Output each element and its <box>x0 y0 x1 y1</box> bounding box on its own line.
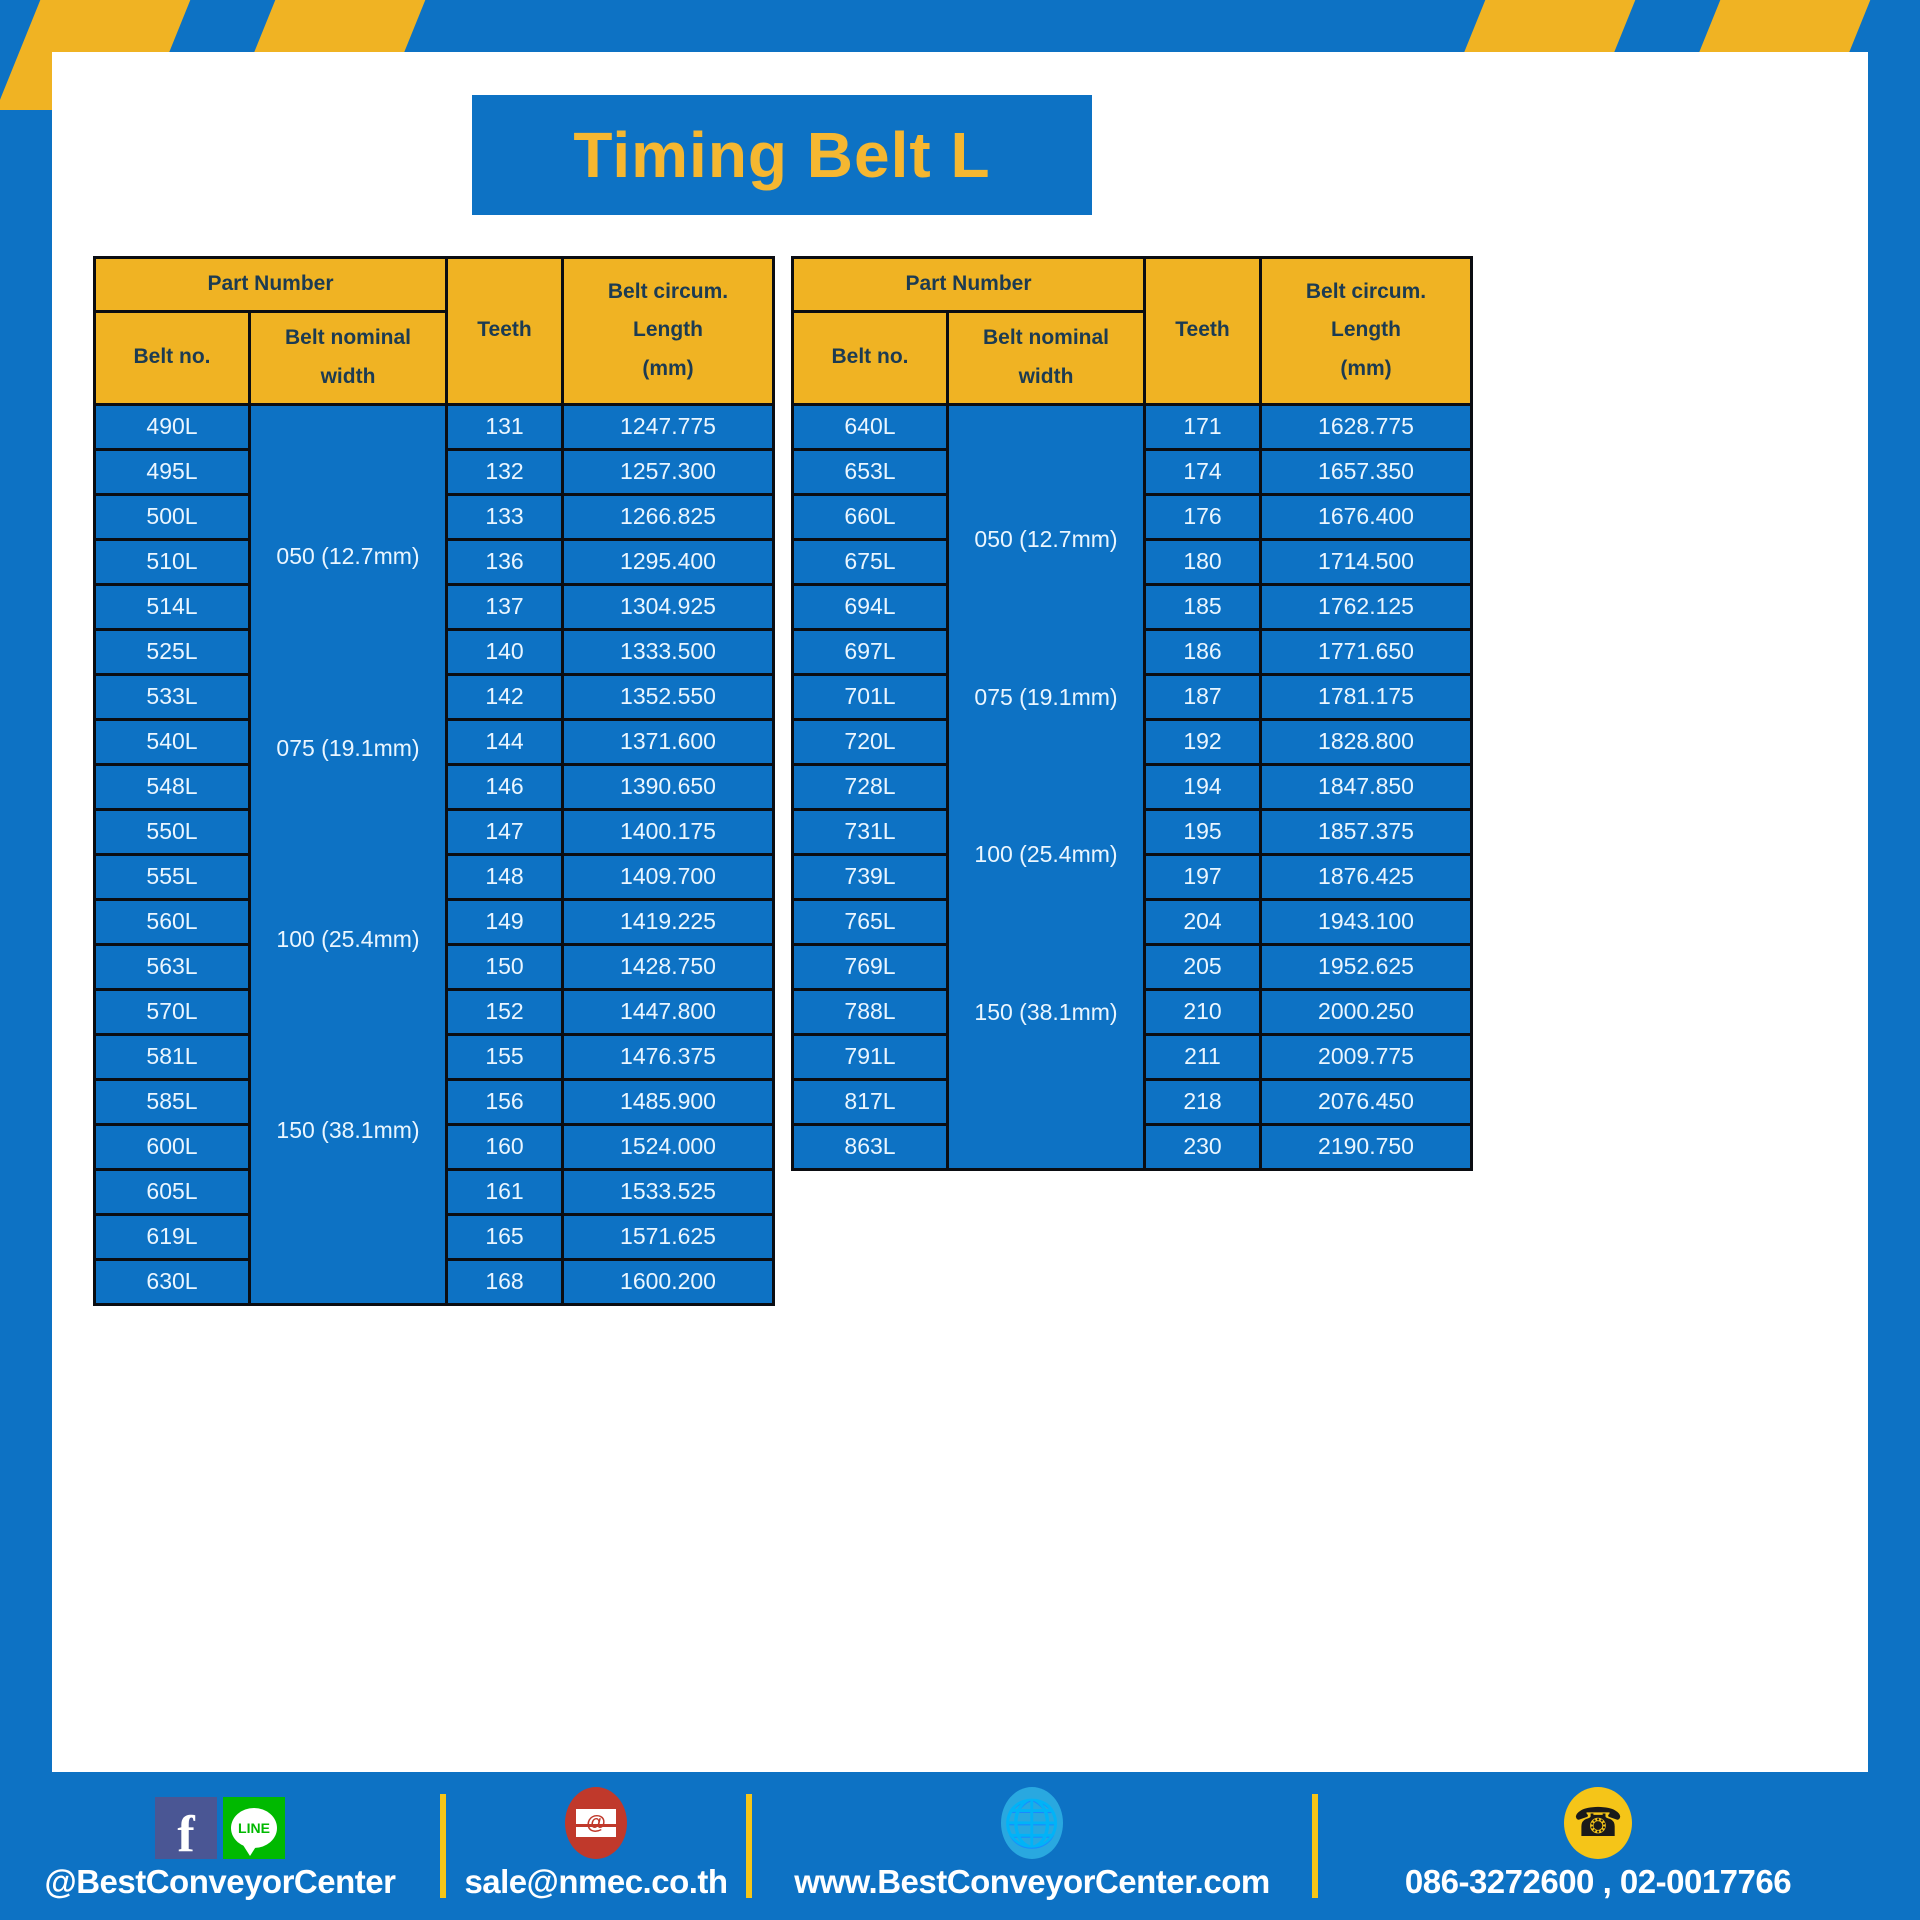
cell-length: 1876.425 <box>1261 854 1472 899</box>
cell-teeth: 132 <box>447 449 563 494</box>
th-part-number: Part Number <box>793 258 1145 312</box>
cell-belt-no: 514L <box>95 584 250 629</box>
cell-length: 1352.550 <box>563 674 774 719</box>
cell-length: 1676.400 <box>1261 494 1472 539</box>
cell-length: 2000.250 <box>1261 989 1472 1034</box>
cell-belt-no: 585L <box>95 1079 250 1124</box>
cell-belt-no: 525L <box>95 629 250 674</box>
width-option: 100 (25.4mm) <box>251 926 445 954</box>
cell-belt-no: 500L <box>95 494 250 539</box>
cell-length: 1419.225 <box>563 899 774 944</box>
cell-length: 1657.350 <box>1261 449 1472 494</box>
table-body-right: 640L050 (12.7mm)075 (19.1mm)100 (25.4mm)… <box>793 404 1472 1169</box>
cell-length: 1524.000 <box>563 1124 774 1169</box>
cell-belt-no: 791L <box>793 1034 948 1079</box>
footer-website-text: www.BestConveyorCenter.com <box>794 1863 1269 1901</box>
cell-teeth: 161 <box>447 1169 563 1214</box>
cell-belt-no: 765L <box>793 899 948 944</box>
width-option: 100 (25.4mm) <box>949 841 1143 869</box>
facebook-icon[interactable]: f <box>155 1797 217 1859</box>
cell-teeth: 211 <box>1145 1034 1261 1079</box>
table-head-right: Part Number Teeth Belt circum. Length (m… <box>793 258 1472 405</box>
cell-length: 1781.175 <box>1261 674 1472 719</box>
email-icon[interactable] <box>565 1787 627 1859</box>
th-belt-circum: Belt circum. Length (mm) <box>1261 258 1472 405</box>
header-row-top-right: Part Number Teeth Belt circum. Length (m… <box>793 258 1472 312</box>
cell-belt-no: 728L <box>793 764 948 809</box>
th-belt-nominal-line1: Belt nominal <box>951 319 1141 358</box>
cell-teeth: 149 <box>447 899 563 944</box>
cell-teeth: 142 <box>447 674 563 719</box>
width-option: 150 (38.1mm) <box>949 999 1143 1027</box>
cell-belt-no: 863L <box>793 1124 948 1169</box>
cell-length: 1533.525 <box>563 1169 774 1214</box>
cell-length: 1371.600 <box>563 719 774 764</box>
cell-belt-no: 640L <box>793 404 948 449</box>
cell-teeth: 152 <box>447 989 563 1034</box>
cell-length: 1295.400 <box>563 539 774 584</box>
cell-belt-no: 630L <box>95 1259 250 1304</box>
footer-phone-icon-wrap: ☎ <box>1564 1791 1632 1859</box>
footer-website[interactable]: 🌐 www.BestConveyorCenter.com <box>752 1791 1312 1901</box>
poster-root: Timing Belt L Part Number Teeth Belt cir… <box>0 0 1920 1920</box>
cell-teeth: 195 <box>1145 809 1261 854</box>
cell-length: 1762.125 <box>1261 584 1472 629</box>
th-belt-nominal-width: Belt nominal width <box>948 311 1145 404</box>
cell-belt-no: 550L <box>95 809 250 854</box>
cell-belt-no: 560L <box>95 899 250 944</box>
cell-belt-no: 788L <box>793 989 948 1034</box>
cell-belt-no: 697L <box>793 629 948 674</box>
cell-length: 1943.100 <box>1261 899 1472 944</box>
cell-teeth: 185 <box>1145 584 1261 629</box>
belt-table-left-wrapper: Part Number Teeth Belt circum. Length (m… <box>93 256 775 1306</box>
cell-belt-no: 731L <box>793 809 948 854</box>
cell-length: 1447.800 <box>563 989 774 1034</box>
th-belt-circum-line2: Length <box>1264 311 1468 350</box>
th-belt-no: Belt no. <box>793 311 948 404</box>
cell-teeth: 150 <box>447 944 563 989</box>
footer-social-handle: @BestConveyorCenter <box>45 1863 396 1901</box>
width-option: 050 (12.7mm) <box>949 526 1143 554</box>
cell-belt-no: 694L <box>793 584 948 629</box>
cell-teeth: 140 <box>447 629 563 674</box>
cell-teeth: 186 <box>1145 629 1261 674</box>
cell-teeth: 210 <box>1145 989 1261 1034</box>
cell-length: 1257.300 <box>563 449 774 494</box>
line-icon-label: LINE <box>231 1808 277 1848</box>
cell-length: 1400.175 <box>563 809 774 854</box>
cell-teeth: 137 <box>447 584 563 629</box>
cell-teeth: 136 <box>447 539 563 584</box>
cell-length: 1485.900 <box>563 1079 774 1124</box>
cell-teeth: 133 <box>447 494 563 539</box>
cell-teeth: 146 <box>447 764 563 809</box>
cell-teeth: 131 <box>447 404 563 449</box>
footer-phone-text: 086-3272600 , 02-0017766 <box>1405 1863 1791 1901</box>
belt-table-right-wrapper: Part Number Teeth Belt circum. Length (m… <box>791 256 1473 1171</box>
footer-email-text: sale@nmec.co.th <box>464 1863 727 1901</box>
cell-teeth: 148 <box>447 854 563 899</box>
cell-teeth: 187 <box>1145 674 1261 719</box>
width-option: 150 (38.1mm) <box>251 1117 445 1145</box>
cell-teeth: 176 <box>1145 494 1261 539</box>
cell-teeth: 165 <box>447 1214 563 1259</box>
cell-belt-no: 619L <box>95 1214 250 1259</box>
width-option: 075 (19.1mm) <box>949 684 1143 712</box>
cell-length: 1600.200 <box>563 1259 774 1304</box>
cell-length: 1409.700 <box>563 854 774 899</box>
cell-length: 1247.775 <box>563 404 774 449</box>
th-belt-circum-line1: Belt circum. <box>566 273 770 312</box>
cell-belt-no: 817L <box>793 1079 948 1124</box>
cell-belt-no: 548L <box>95 764 250 809</box>
cell-teeth: 147 <box>447 809 563 854</box>
th-teeth: Teeth <box>1145 258 1261 405</box>
cell-length: 1390.650 <box>563 764 774 809</box>
line-icon[interactable]: LINE <box>223 1797 285 1859</box>
footer-bar: f LINE @BestConveyorCenter sale@nmec.co.… <box>0 1772 1920 1920</box>
cell-length: 1476.375 <box>563 1034 774 1079</box>
th-belt-circum-line1: Belt circum. <box>1264 273 1468 312</box>
cell-teeth: 168 <box>447 1259 563 1304</box>
cell-length: 2076.450 <box>1261 1079 1472 1124</box>
cell-length: 1333.500 <box>563 629 774 674</box>
cell-length: 1428.750 <box>563 944 774 989</box>
cell-length: 1628.775 <box>1261 404 1472 449</box>
cell-belt-no: 510L <box>95 539 250 584</box>
footer-website-icon-wrap: 🌐 <box>1001 1791 1063 1859</box>
footer-email[interactable]: sale@nmec.co.th <box>446 1791 746 1901</box>
cell-belt-no: 660L <box>793 494 948 539</box>
cell-length: 1771.650 <box>1261 629 1472 674</box>
cell-belt-no: 563L <box>95 944 250 989</box>
th-belt-circum: Belt circum. Length (mm) <box>563 258 774 405</box>
cell-belt-no: 701L <box>793 674 948 719</box>
cell-length: 1571.625 <box>563 1214 774 1259</box>
cell-belt-no: 555L <box>95 854 250 899</box>
cell-belt-no: 720L <box>793 719 948 764</box>
header-row-top-left: Part Number Teeth Belt circum. Length (m… <box>95 258 774 312</box>
cell-length: 1266.825 <box>563 494 774 539</box>
belt-table-left: Part Number Teeth Belt circum. Length (m… <box>93 256 775 1306</box>
cell-length: 1847.850 <box>1261 764 1472 809</box>
cell-belt-nominal-width: 050 (12.7mm)075 (19.1mm)100 (25.4mm)150 … <box>250 404 447 1304</box>
cell-belt-no: 600L <box>95 1124 250 1169</box>
width-options-list: 050 (12.7mm)075 (19.1mm)100 (25.4mm)150 … <box>949 406 1143 1168</box>
cell-belt-nominal-width: 050 (12.7mm)075 (19.1mm)100 (25.4mm)150 … <box>948 404 1145 1169</box>
table-body-left: 490L050 (12.7mm)075 (19.1mm)100 (25.4mm)… <box>95 404 774 1304</box>
cell-belt-no: 540L <box>95 719 250 764</box>
cell-length: 2190.750 <box>1261 1124 1472 1169</box>
phone-icon[interactable]: ☎ <box>1564 1787 1632 1859</box>
cell-belt-no: 675L <box>793 539 948 584</box>
th-belt-nominal-line2: width <box>951 358 1141 397</box>
footer-social[interactable]: f LINE @BestConveyorCenter <box>0 1791 440 1901</box>
width-options-list: 050 (12.7mm)075 (19.1mm)100 (25.4mm)150 … <box>251 406 445 1303</box>
cell-length: 1828.800 <box>1261 719 1472 764</box>
cell-teeth: 194 <box>1145 764 1261 809</box>
th-belt-circum-line3: (mm) <box>1264 350 1468 389</box>
cell-belt-no: 570L <box>95 989 250 1034</box>
cell-teeth: 192 <box>1145 719 1261 764</box>
cell-belt-no: 495L <box>95 449 250 494</box>
width-option: 050 (12.7mm) <box>251 543 445 571</box>
footer-phone[interactable]: ☎ 086-3272600 , 02-0017766 <box>1318 1791 1878 1901</box>
table-row: 490L050 (12.7mm)075 (19.1mm)100 (25.4mm)… <box>95 404 774 449</box>
globe-icon[interactable]: 🌐 <box>1001 1787 1063 1859</box>
cell-teeth: 197 <box>1145 854 1261 899</box>
th-belt-nominal-line1: Belt nominal <box>253 319 443 358</box>
cell-teeth: 204 <box>1145 899 1261 944</box>
cell-teeth: 171 <box>1145 404 1261 449</box>
cell-teeth: 218 <box>1145 1079 1261 1124</box>
cell-teeth: 155 <box>447 1034 563 1079</box>
th-belt-circum-line2: Length <box>566 311 770 350</box>
cell-length: 1857.375 <box>1261 809 1472 854</box>
cell-length: 1952.625 <box>1261 944 1472 989</box>
cell-length: 1304.925 <box>563 584 774 629</box>
width-option: 075 (19.1mm) <box>251 735 445 763</box>
cell-belt-no: 490L <box>95 404 250 449</box>
table-head-left: Part Number Teeth Belt circum. Length (m… <box>95 258 774 405</box>
cell-belt-no: 581L <box>95 1034 250 1079</box>
cell-belt-no: 739L <box>793 854 948 899</box>
footer-email-icon-wrap <box>565 1791 627 1859</box>
th-belt-nominal-width: Belt nominal width <box>250 311 447 404</box>
table-row: 640L050 (12.7mm)075 (19.1mm)100 (25.4mm)… <box>793 404 1472 449</box>
cell-teeth: 156 <box>447 1079 563 1124</box>
page-title-text: Timing Belt L <box>573 123 990 187</box>
cell-teeth: 144 <box>447 719 563 764</box>
cell-belt-no: 605L <box>95 1169 250 1214</box>
th-belt-circum-line3: (mm) <box>566 350 770 389</box>
belt-table-right: Part Number Teeth Belt circum. Length (m… <box>791 256 1473 1171</box>
th-belt-nominal-line2: width <box>253 358 443 397</box>
cell-belt-no: 653L <box>793 449 948 494</box>
cell-teeth: 160 <box>447 1124 563 1169</box>
th-teeth: Teeth <box>447 258 563 405</box>
cell-teeth: 180 <box>1145 539 1261 584</box>
page-title: Timing Belt L <box>472 95 1092 215</box>
cell-length: 2009.775 <box>1261 1034 1472 1079</box>
th-belt-no: Belt no. <box>95 311 250 404</box>
th-part-number: Part Number <box>95 258 447 312</box>
cell-belt-no: 533L <box>95 674 250 719</box>
footer-social-icons: f LINE <box>155 1791 285 1859</box>
cell-teeth: 205 <box>1145 944 1261 989</box>
cell-teeth: 174 <box>1145 449 1261 494</box>
cell-belt-no: 769L <box>793 944 948 989</box>
cell-length: 1714.500 <box>1261 539 1472 584</box>
cell-teeth: 230 <box>1145 1124 1261 1169</box>
